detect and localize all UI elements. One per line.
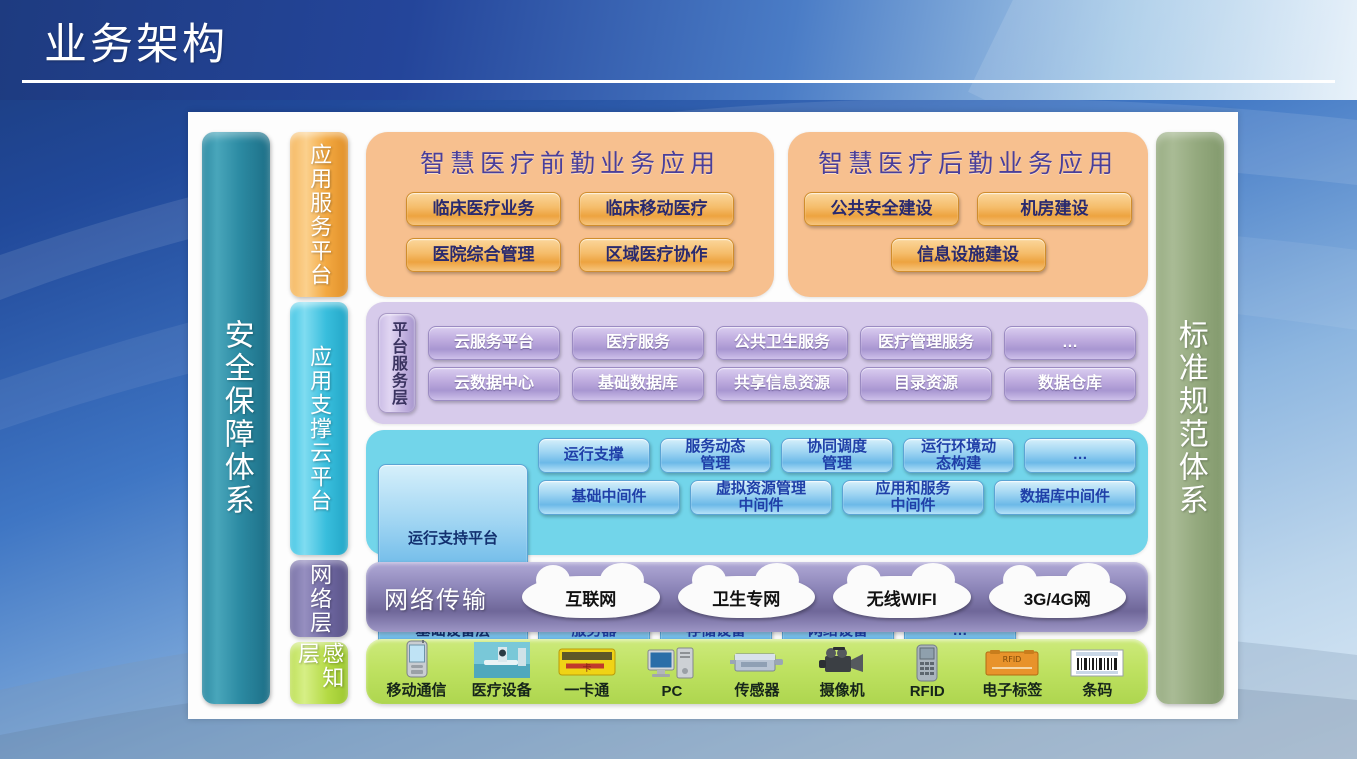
barcode-icon <box>1070 640 1124 678</box>
architecture-diagram: 安全保障体系 标准规范体系 应用服务平台 应用支撑云平台 网络层 感知层 智慧医… <box>188 112 1238 719</box>
network-cloud-health-vpn[interactable]: 卫生专网 <box>678 576 816 618</box>
layer-tab-application-support-cloud[interactable]: 应用支撑云平台 <box>290 302 348 555</box>
layer-tab-perception-layer[interactable]: 感知层 <box>290 642 348 704</box>
slide-header: 业务架构 <box>0 0 1357 100</box>
support-cloud-platform-panel: 运行支持平台 运行支撑 服务动态管理 协同调度管理 运行环境动态构建 … 基础中… <box>366 430 1148 555</box>
platform-service-row-1: 云服务平台 医疗服务 公共卫生服务 医疗管理服务 … <box>428 326 1136 360</box>
platform-item-cloud-data-center[interactable]: 云数据中心 <box>428 367 560 401</box>
platform-service-layer-panel: 平台服务层 云服务平台 医疗服务 公共卫生服务 医疗管理服务 … 云数据中心 基… <box>366 302 1148 424</box>
perception-label-smart-card: 一卡通 <box>564 679 609 700</box>
support-item-database-middleware[interactable]: 数据库中间件 <box>994 480 1136 515</box>
platform-item-basic-database[interactable]: 基础数据库 <box>572 367 704 401</box>
layer-tab-application-service-platform[interactable]: 应用服务平台 <box>290 132 348 297</box>
perception-label-medical-equipment: 医疗设备 <box>472 679 532 700</box>
perception-item-sensor[interactable]: 传感器 <box>717 640 797 700</box>
platform-item-medical-service[interactable]: 医疗服务 <box>572 326 704 360</box>
front-office-row-2: 医院综合管理 区域医疗协作 <box>366 238 774 272</box>
perception-item-video-camera[interactable]: 摄像机 <box>802 640 882 700</box>
support-cloud-row-1: 运行支撑 服务动态管理 协同调度管理 运行环境动态构建 … <box>538 438 1136 473</box>
security-assurance-pillar: 安全保障体系 <box>202 132 270 704</box>
network-transmission-label: 网络传输 <box>384 580 488 615</box>
perception-item-pc[interactable]: PC <box>632 644 712 700</box>
header-diagonal-highlight <box>968 0 1357 100</box>
mobile-phone-icon <box>405 640 429 678</box>
perception-item-mobile-communication[interactable]: 移动通信 <box>377 640 457 700</box>
support-item-run-support[interactable]: 运行支撑 <box>538 438 650 473</box>
svg-text:RFID: RFID <box>1003 655 1022 664</box>
layer-tab-network-layer[interactable]: 网络层 <box>290 560 348 637</box>
support-item-runtime-environment-construction[interactable]: 运行环境动态构建 <box>903 438 1015 473</box>
support-item-service-dynamic-management[interactable]: 服务动态管理 <box>660 438 772 473</box>
perception-label-barcode: 条码 <box>1082 679 1112 700</box>
app-button-public-safety-construction[interactable]: 公共安全建设 <box>804 192 959 226</box>
front-office-application-panel: 智慧医疗前勤业务应用 临床医疗业务 临床移动医疗 医院综合管理 区域医疗协作 <box>366 132 774 297</box>
perception-label-sensor: 传感器 <box>734 679 779 700</box>
standards-specification-pillar: 标准规范体系 <box>1156 132 1224 704</box>
desktop-pc-icon <box>646 644 698 682</box>
platform-item-shared-information-resource[interactable]: 共享信息资源 <box>716 367 848 401</box>
app-button-data-center-construction[interactable]: 机房建设 <box>977 192 1132 226</box>
platform-service-layer-label: 平台服务层 <box>378 313 416 413</box>
perception-label-rfid: RFID <box>910 683 945 700</box>
perception-label-mobile-communication: 移动通信 <box>387 679 447 700</box>
medical-equipment-icon <box>474 640 530 678</box>
app-button-regional-medical-collaboration[interactable]: 区域医疗协作 <box>579 238 734 272</box>
perception-label-video-camera: 摄像机 <box>820 679 865 700</box>
platform-item-more[interactable]: … <box>1004 326 1136 360</box>
platform-item-cloud-service-platform[interactable]: 云服务平台 <box>428 326 560 360</box>
perception-label-rfid-tag: 电子标签 <box>982 679 1042 700</box>
app-button-information-infrastructure[interactable]: 信息设施建设 <box>891 238 1046 272</box>
network-cloud-3g-4g[interactable]: 3G/4G网 <box>989 576 1127 618</box>
platform-item-public-health-service[interactable]: 公共卫生服务 <box>716 326 848 360</box>
support-item-basic-middleware[interactable]: 基础中间件 <box>538 480 680 515</box>
platform-service-row-2: 云数据中心 基础数据库 共享信息资源 目录资源 数据仓库 <box>428 367 1136 401</box>
support-item-virtual-resource-management-middleware[interactable]: 虚拟资源管理中间件 <box>690 480 832 515</box>
platform-item-catalog-resource[interactable]: 目录资源 <box>860 367 992 401</box>
back-office-row-1: 公共安全建设 机房建设 <box>788 192 1148 226</box>
platform-item-medical-management-service[interactable]: 医疗管理服务 <box>860 326 992 360</box>
support-cloud-row-2: 基础中间件 虚拟资源管理中间件 应用和服务中间件 数据库中间件 <box>538 480 1136 515</box>
network-cloud-wireless-wifi[interactable]: 无线WIFI <box>833 576 971 618</box>
smart-card-icon: 卡 <box>558 640 616 678</box>
rfid-tag-icon: RFID <box>984 640 1040 678</box>
back-office-panel-title: 智慧医疗后勤业务应用 <box>788 144 1148 180</box>
page-title: 业务架构 <box>44 10 228 72</box>
perception-label-pc: PC <box>661 683 682 700</box>
support-item-application-service-middleware[interactable]: 应用和服务中间件 <box>842 480 984 515</box>
app-button-hospital-integrated-management[interactable]: 医院综合管理 <box>406 238 561 272</box>
title-underline <box>22 80 1335 83</box>
support-item-more-1[interactable]: … <box>1024 438 1136 473</box>
platform-item-data-warehouse[interactable]: 数据仓库 <box>1004 367 1136 401</box>
rfid-reader-icon <box>913 644 941 682</box>
platform-service-grid: 云服务平台 医疗服务 公共卫生服务 医疗管理服务 … 云数据中心 基础数据库 共… <box>416 319 1148 408</box>
perception-item-rfid[interactable]: RFID <box>887 644 967 700</box>
front-office-panel-title: 智慧医疗前勤业务应用 <box>366 144 774 180</box>
sensor-icon <box>729 640 785 678</box>
perception-item-barcode[interactable]: 条码 <box>1057 640 1137 700</box>
back-office-application-panel: 智慧医疗后勤业务应用 公共安全建设 机房建设 信息设施建设 <box>788 132 1148 297</box>
perception-layer-panel: 移动通信 医疗设备 卡 <box>366 639 1148 704</box>
video-camera-icon <box>815 640 869 678</box>
app-button-clinical-mobile-medical[interactable]: 临床移动医疗 <box>579 192 734 226</box>
network-transmission-panel: 网络传输 互联网 卫生专网 无线WIFI 3G/4G网 <box>366 562 1148 632</box>
perception-item-rfid-tag[interactable]: RFID 电子标签 <box>972 640 1052 700</box>
perception-item-medical-equipment[interactable]: 医疗设备 <box>462 640 542 700</box>
perception-item-smart-card[interactable]: 卡 一卡通 <box>547 640 627 700</box>
back-office-row-2: 信息设施建设 <box>788 238 1148 272</box>
svg-text:卡: 卡 <box>582 662 591 674</box>
network-cloud-internet[interactable]: 互联网 <box>522 576 660 618</box>
support-item-collaborative-scheduling-management[interactable]: 协同调度管理 <box>781 438 893 473</box>
front-office-row-1: 临床医疗业务 临床移动医疗 <box>366 192 774 226</box>
app-button-clinical-medical-business[interactable]: 临床医疗业务 <box>406 192 561 226</box>
